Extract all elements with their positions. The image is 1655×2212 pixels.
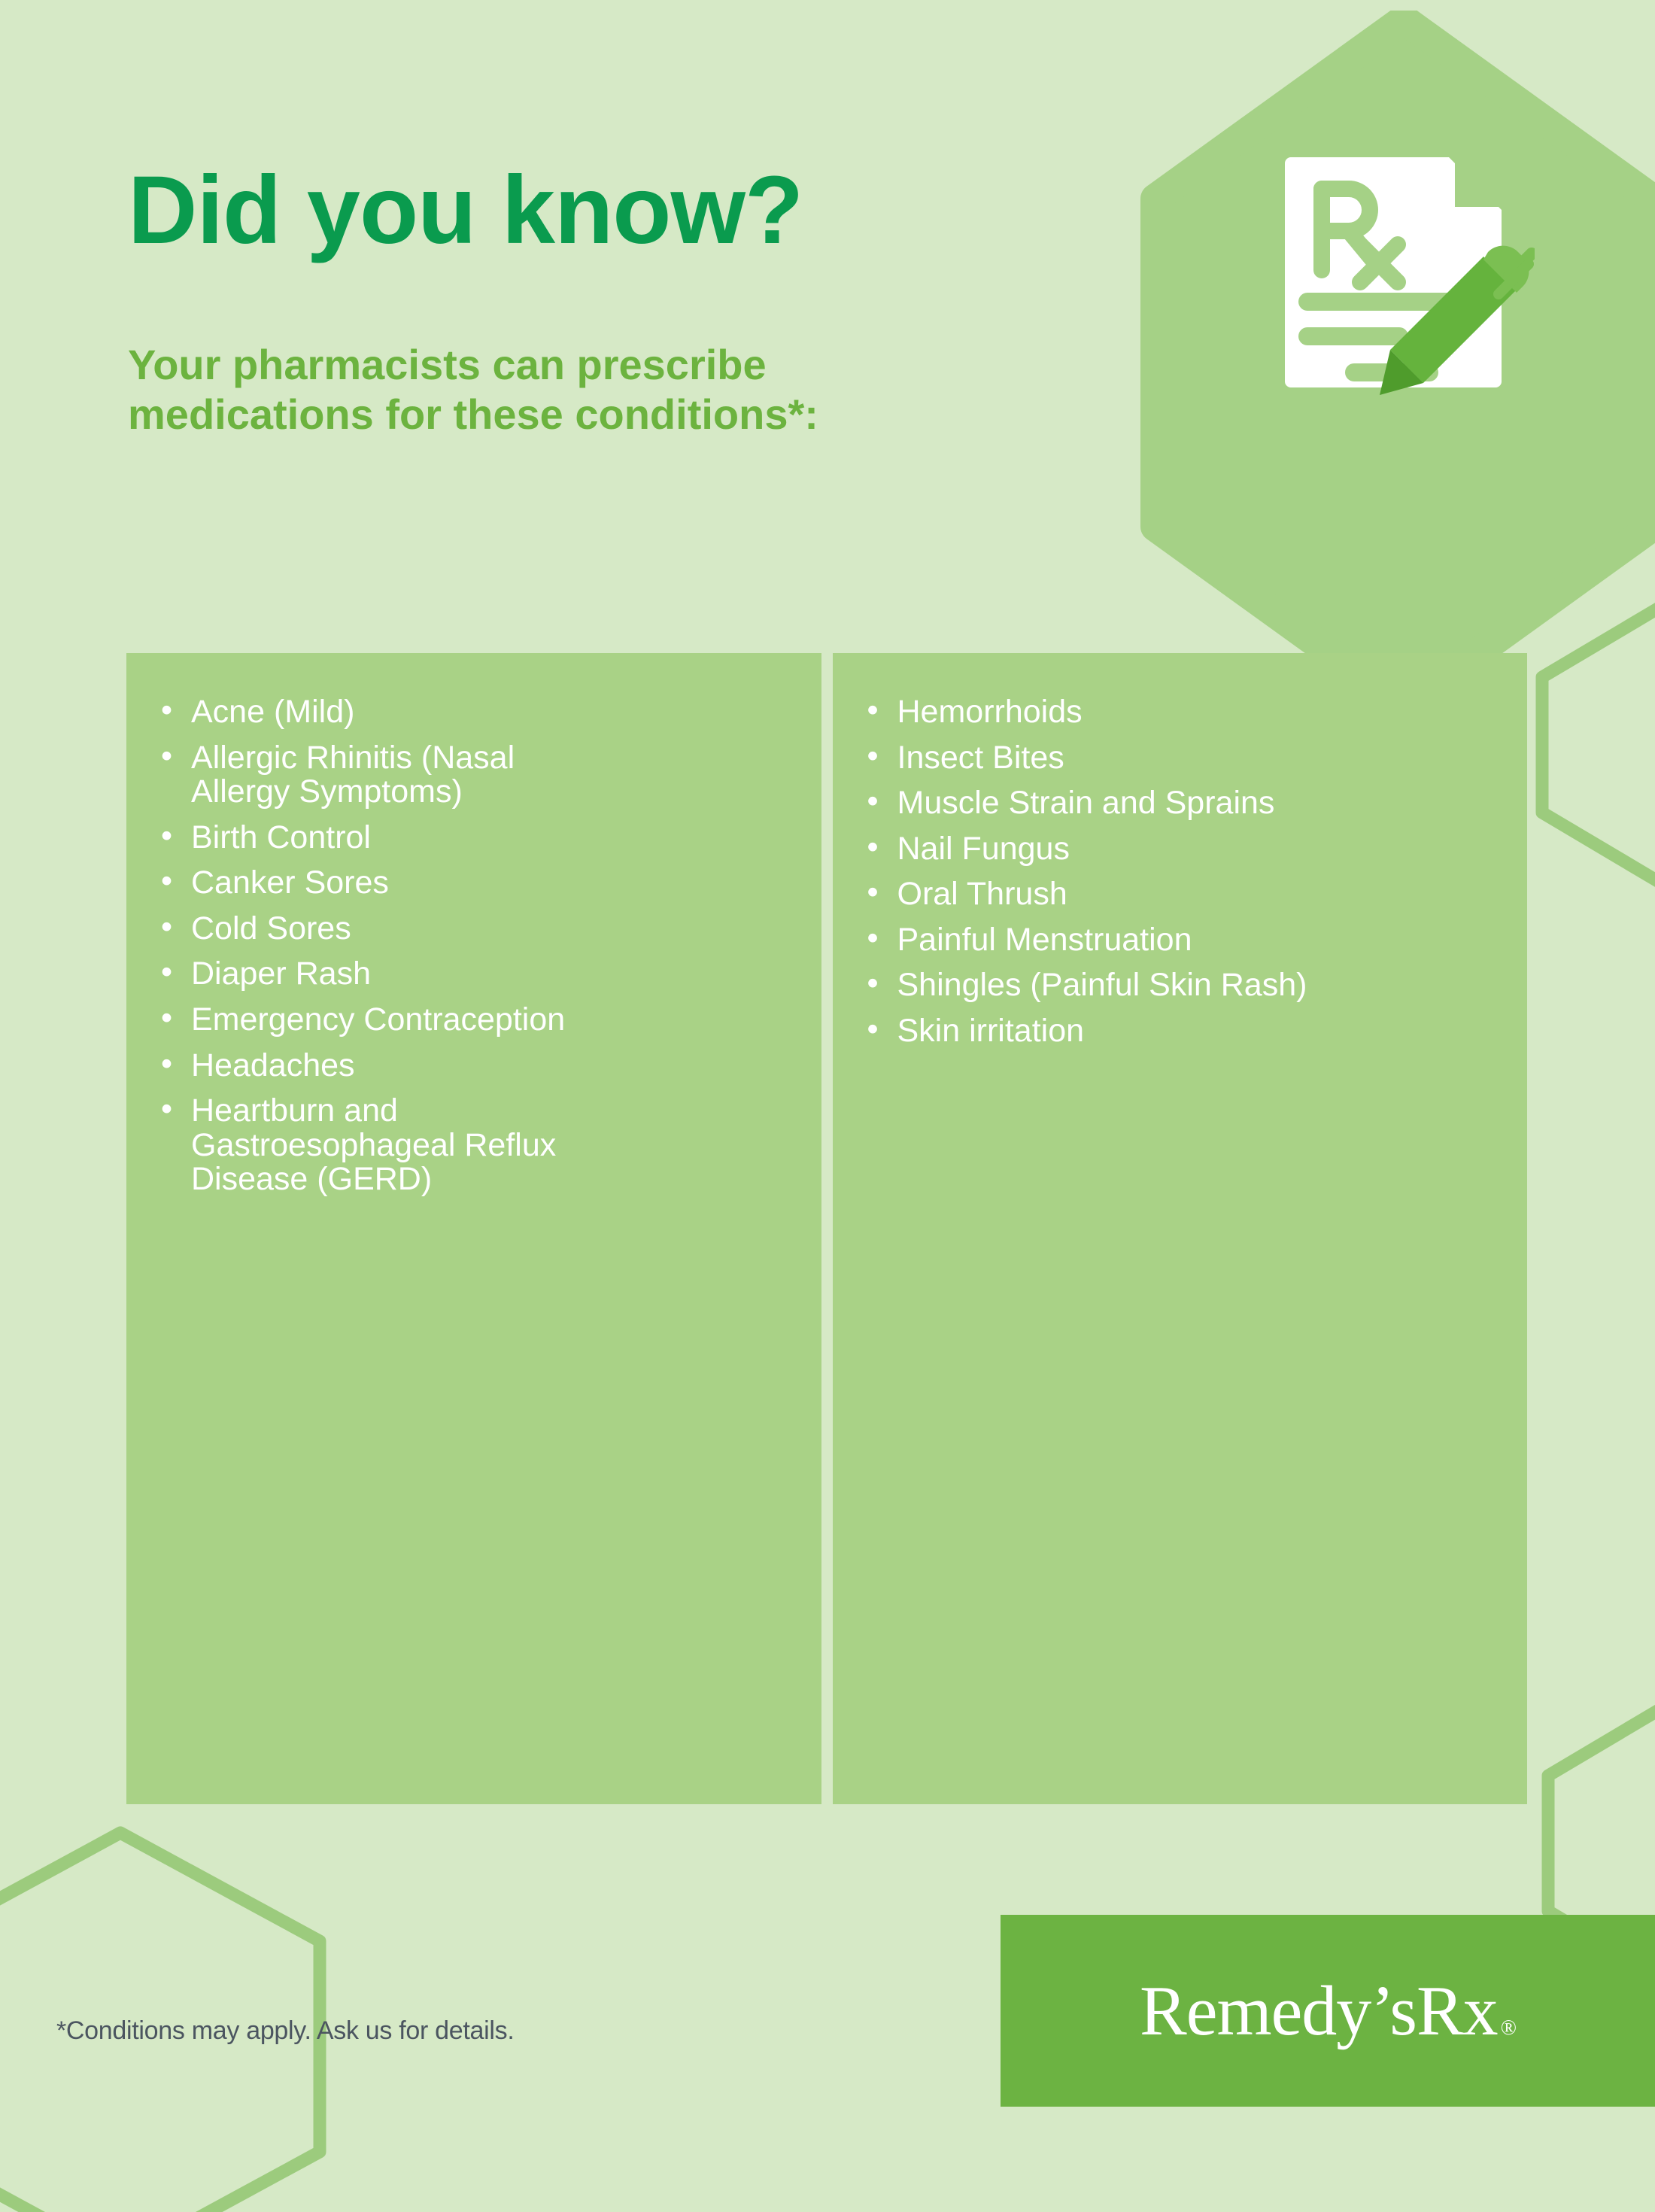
condition-line: Headaches xyxy=(191,1049,799,1083)
page-subtitle: Your pharmacists can prescribe medicatio… xyxy=(128,340,1016,439)
conditions-list-right: HemorrhoidsInsect BitesMuscle Strain and… xyxy=(864,695,1505,1049)
page-title: Did you know? xyxy=(128,163,1106,259)
condition-list-item: Shingles (Painful Skin Rash) xyxy=(864,968,1505,1003)
condition-line: Nail Fungus xyxy=(897,832,1505,867)
condition-list-item: Skin irritation xyxy=(864,1014,1505,1049)
condition-line: Muscle Strain and Sprains xyxy=(897,786,1505,821)
condition-line: Skin irritation xyxy=(897,1014,1505,1049)
condition-list-item: Heartburn andGastroesophageal RefluxDise… xyxy=(158,1094,799,1197)
condition-list-item: Acne (Mild) xyxy=(158,695,799,730)
brand-wordmark: Remedy’sRx® xyxy=(1140,1970,1516,2052)
condition-line: Oral Thrush xyxy=(897,877,1505,912)
condition-list-item: Headaches xyxy=(158,1049,799,1083)
condition-line: Emergency Contraception xyxy=(191,1003,799,1038)
condition-list-item: Muscle Strain and Sprains xyxy=(864,786,1505,821)
condition-line: Acne (Mild) xyxy=(191,695,799,730)
brand-logo-bar: Remedy’sRx® xyxy=(1001,1915,1655,2107)
condition-list-item: Painful Menstruation xyxy=(864,923,1505,958)
condition-line: Birth Control xyxy=(191,821,799,855)
brand-wordmark-text: Remedy’sRx xyxy=(1140,1972,1498,2050)
condition-line: Shingles (Painful Skin Rash) xyxy=(897,968,1505,1003)
condition-line: Diaper Rash xyxy=(191,957,799,992)
conditions-area: Acne (Mild)Allergic Rhinitis (NasalAller… xyxy=(126,653,1527,1804)
condition-line: Canker Sores xyxy=(191,866,799,901)
rx-prescription-document-icon xyxy=(1279,147,1535,395)
condition-list-item: Insect Bites xyxy=(864,741,1505,776)
condition-line: Insect Bites xyxy=(897,741,1505,776)
footnote-text: *Conditions may apply. Ask us for detail… xyxy=(56,2016,515,2046)
condition-line: Painful Menstruation xyxy=(897,923,1505,958)
condition-line: Hemorrhoids xyxy=(897,695,1505,730)
condition-list-item: Allergic Rhinitis (NasalAllergy Symptoms… xyxy=(158,741,799,810)
condition-line: Gastroesophageal Reflux xyxy=(191,1129,799,1163)
registered-trademark-icon: ® xyxy=(1501,2016,1516,2040)
condition-line: Allergy Symptoms) xyxy=(191,775,799,810)
condition-line: Cold Sores xyxy=(191,912,799,946)
condition-list-item: Nail Fungus xyxy=(864,832,1505,867)
headline-block: Did you know? Your pharmacists can presc… xyxy=(128,163,1106,439)
condition-list-item: Hemorrhoids xyxy=(864,695,1505,730)
condition-list-item: Cold Sores xyxy=(158,912,799,946)
condition-line: Disease (GERD) xyxy=(191,1162,799,1197)
condition-list-item: Oral Thrush xyxy=(864,877,1505,912)
condition-list-item: Birth Control xyxy=(158,821,799,855)
condition-line: Heartburn and xyxy=(191,1094,799,1129)
condition-list-item: Canker Sores xyxy=(158,866,799,901)
conditions-panel-left: Acne (Mild)Allergic Rhinitis (NasalAller… xyxy=(126,653,821,1804)
hexagon-outline-right xyxy=(1535,594,1655,895)
conditions-panel-right: HemorrhoidsInsect BitesMuscle Strain and… xyxy=(833,653,1528,1804)
condition-line: Allergic Rhinitis (Nasal xyxy=(191,741,799,776)
condition-list-item: Diaper Rash xyxy=(158,957,799,992)
condition-list-item: Emergency Contraception xyxy=(158,1003,799,1038)
conditions-list-left: Acne (Mild)Allergic Rhinitis (NasalAller… xyxy=(158,695,799,1197)
